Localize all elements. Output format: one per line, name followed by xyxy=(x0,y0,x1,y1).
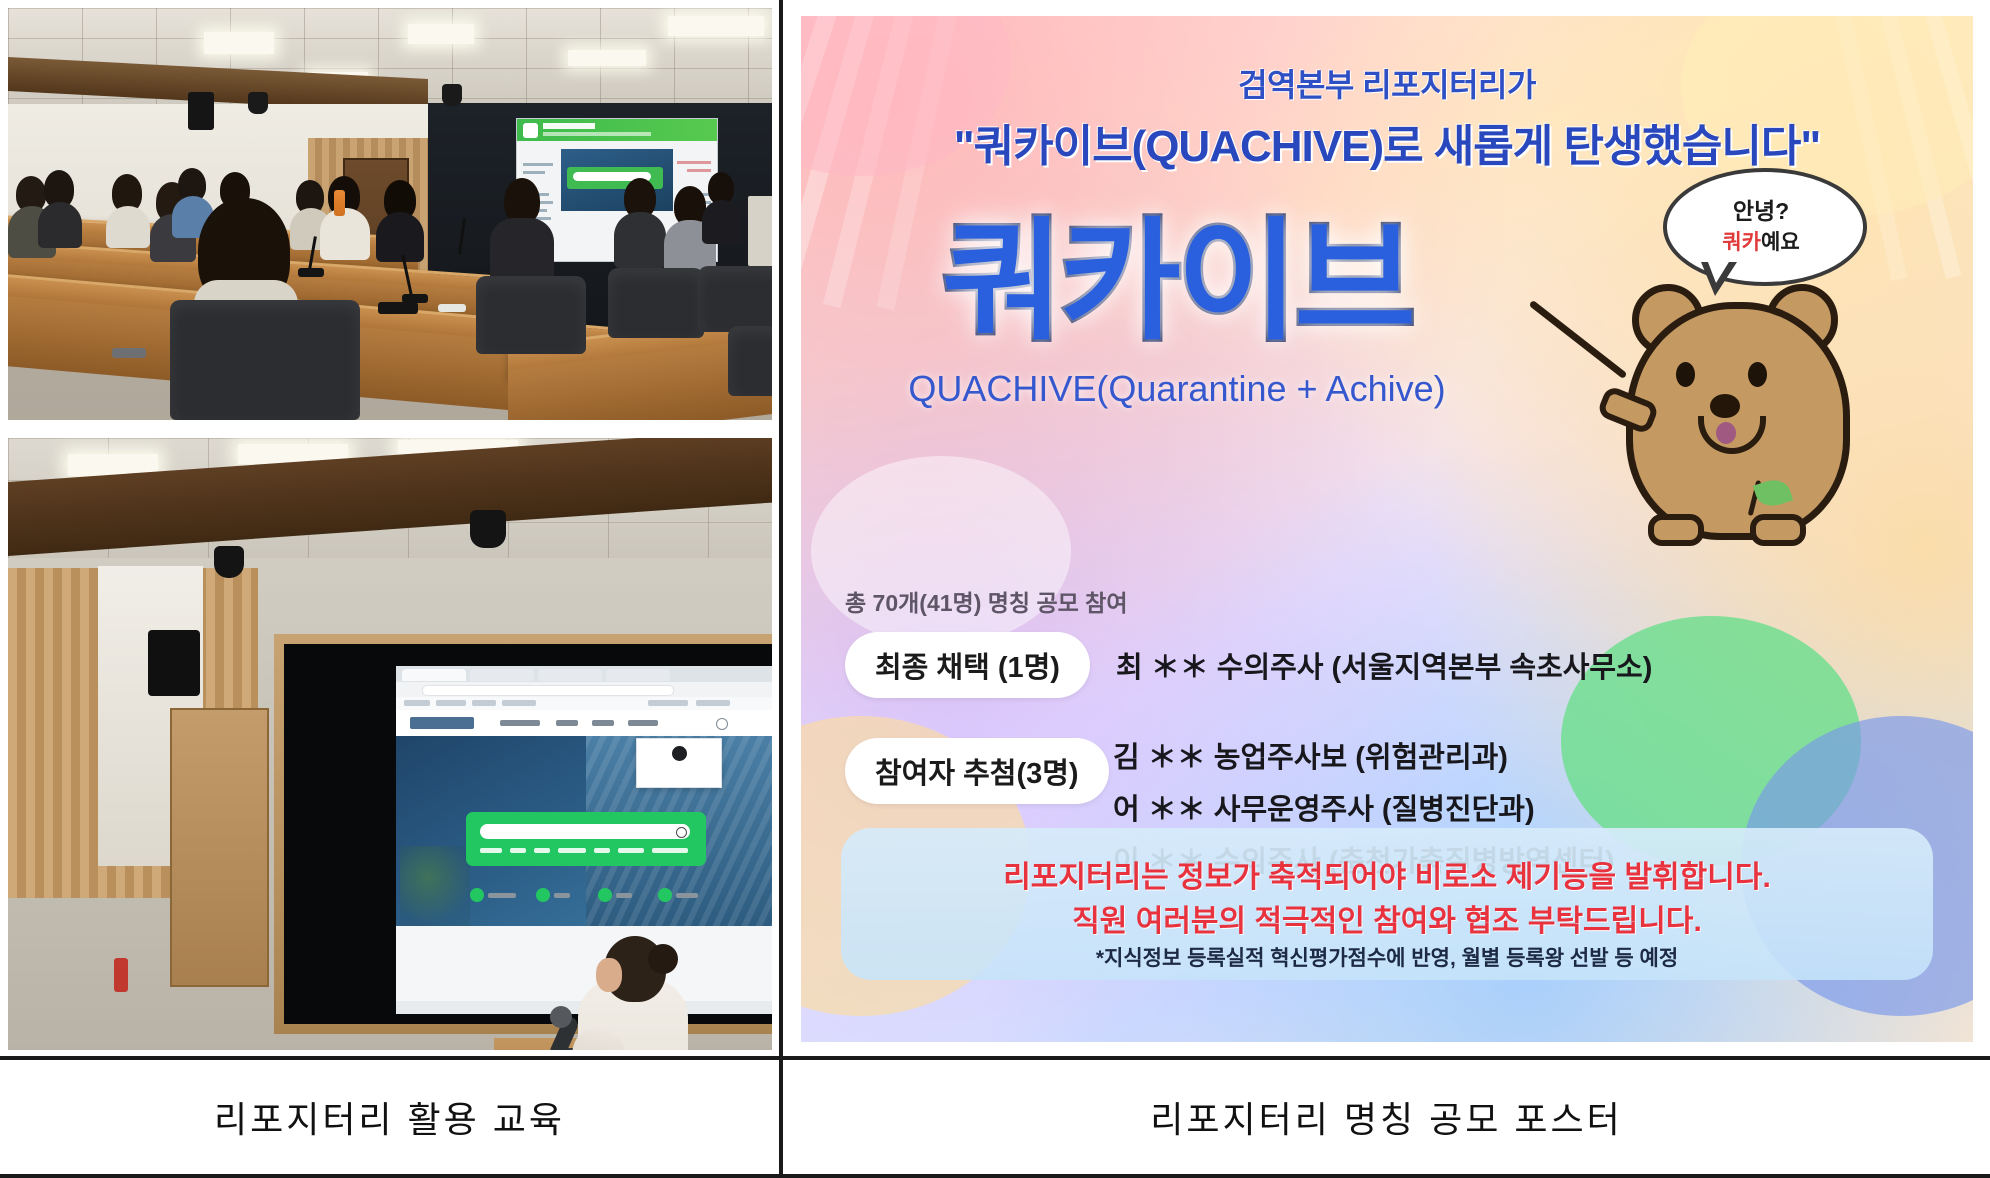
repository-training-lecture-hall-photo xyxy=(8,8,772,420)
draw-label: 참여자 추첨(3명) xyxy=(845,738,1109,804)
final-pick-label: 최종 채택 (1명) xyxy=(845,632,1090,698)
site-nav-item[interactable] xyxy=(556,720,578,726)
repository-demo-presenter-photo: APQA Repository 농림축산검역본부 리포지터리 xyxy=(8,438,772,1050)
poster-headline-line1: 검역본부 리포지터리가 xyxy=(801,60,1973,106)
quick-link-label xyxy=(488,893,516,898)
presenter-face xyxy=(596,958,622,992)
office-chair xyxy=(476,276,586,354)
desk-device xyxy=(378,302,418,314)
speech-bubble-line1: 안녕? xyxy=(1663,192,1859,226)
browser-tab[interactable] xyxy=(402,669,466,681)
poster-footnote: *지식정보 등록실적 혁신평가점수에 반영, 월별 등록왕 선발 등 예정 xyxy=(841,942,1933,972)
slide-left-note xyxy=(523,163,553,166)
bottom-border xyxy=(0,1174,1990,1178)
final-pick-row: 최종 채택 (1명) 최 ＊＊ 수의주사 (서울지역본부 속초사무소) xyxy=(845,632,1652,698)
desk-bottle xyxy=(334,190,345,216)
browser-tab[interactable] xyxy=(538,669,602,681)
microphone-base xyxy=(298,268,324,277)
ceiling-light xyxy=(204,32,274,54)
quokka-mascot xyxy=(1606,244,1876,544)
participation-tally: 총 70개(41명) 명칭 공모 참여 xyxy=(845,584,1128,618)
figure-sheet: APQA Repository 농림축산검역본부 리포지터리 xyxy=(0,0,1990,1178)
ceiling-light xyxy=(408,24,474,44)
search-icon[interactable] xyxy=(676,827,687,838)
bookmark-item[interactable] xyxy=(404,700,430,706)
address-bar[interactable] xyxy=(422,685,674,696)
browser-window: APQA Repository 농림축산검역본부 리포지터리 xyxy=(396,666,772,1014)
ceiling-light xyxy=(668,16,764,36)
bookmark-item[interactable] xyxy=(502,700,536,706)
poster-acronym: QUACHIVE(Quarantine + Achive) xyxy=(857,368,1497,410)
desk-paper xyxy=(438,304,466,312)
attendee-body xyxy=(614,212,666,268)
quick-link-label xyxy=(616,893,632,898)
search-tag[interactable] xyxy=(558,848,586,853)
quick-link-label xyxy=(554,893,570,898)
attendee-body xyxy=(38,202,82,248)
attendee-body xyxy=(320,208,370,260)
search-tag[interactable] xyxy=(510,848,526,853)
pointer-stick xyxy=(1529,300,1628,379)
quokka-foot-right xyxy=(1750,514,1806,546)
organization-logo-icon xyxy=(410,717,474,729)
caption-right: 리포지터리 명칭 공모 포스터 xyxy=(783,1060,1990,1174)
office-chair xyxy=(608,268,704,338)
site-nav-item[interactable] xyxy=(500,720,540,726)
poster-headline-line2: "쿼카이브(QUACHIVE)로 새롭게 탄생했습니다" xyxy=(801,110,1973,174)
cta-line2: 직원 여러분의 적극적인 참여와 협조 부탁드립니다. xyxy=(841,896,1933,940)
quokka-tongue xyxy=(1716,422,1736,444)
quick-link-label xyxy=(676,893,698,898)
quick-link-icon[interactable] xyxy=(598,888,612,902)
attendee-body xyxy=(106,206,150,248)
bookmark-item[interactable] xyxy=(696,700,730,706)
video-wall-display: APQA Repository 농림축산검역본부 리포지터리 xyxy=(284,644,772,1024)
vertical-divider xyxy=(779,0,783,1058)
avatar xyxy=(672,746,687,761)
lecture-hall-scene xyxy=(8,8,772,420)
ceiling-camera-icon xyxy=(214,546,244,578)
caption-left: 리포지터리 활용 교육 xyxy=(0,1060,779,1174)
quokka-nose xyxy=(1710,394,1740,418)
room-door xyxy=(170,708,269,987)
presenter-hair-bun xyxy=(648,944,678,974)
quick-link-icon[interactable] xyxy=(658,888,672,902)
site-search-input[interactable] xyxy=(480,824,690,839)
quokka-eye-left xyxy=(1676,362,1695,387)
draw-winner-item: 김 ＊＊ 농업주사보 (위험관리과) xyxy=(1113,734,1615,776)
desk-device xyxy=(112,348,146,358)
ceiling-camera-icon xyxy=(248,92,268,114)
search-tag[interactable] xyxy=(480,848,502,853)
slide-right-note xyxy=(687,169,711,172)
final-pick-winner: 최 ＊＊ 수의주사 (서울지역본부 속초사무소) xyxy=(1116,644,1652,686)
repository-naming-contest-poster: 검역본부 리포지터리가 "쿼카이브(QUACHIVE)로 새롭게 탄생했습니다"… xyxy=(801,16,1973,1042)
slide-right-note xyxy=(677,161,711,164)
ceiling-camera-icon xyxy=(470,510,506,548)
browser-tab[interactable] xyxy=(606,669,670,681)
bookmark-item[interactable] xyxy=(436,700,466,706)
presenter-body xyxy=(702,200,742,244)
fire-extinguisher xyxy=(114,958,128,992)
quokka-eye-right xyxy=(1748,362,1767,387)
wall-speaker xyxy=(148,630,200,696)
slide-left-note xyxy=(523,171,545,174)
poster-wordmark: 쿼카이브 xyxy=(857,216,1497,348)
draw-winner-item: 어 ＊＊ 사무운영주사 (질병진단과) xyxy=(1113,786,1615,828)
wall-speaker xyxy=(188,92,214,130)
organization-logo-icon xyxy=(523,123,538,138)
poster-cell: 검역본부 리포지터리가 "쿼카이브(QUACHIVE)로 새롭게 탄생했습니다"… xyxy=(783,0,1990,1056)
slide-title-text xyxy=(543,123,595,129)
office-chair xyxy=(698,266,772,332)
cta-line1: 리포지터리는 정보가 축적되어야 비로소 제기능을 발휘합니다. xyxy=(841,852,1933,896)
search-tag[interactable] xyxy=(652,848,688,853)
attendee-body xyxy=(376,212,424,262)
search-tag[interactable] xyxy=(534,848,550,853)
search-tag[interactable] xyxy=(618,848,644,853)
office-chair xyxy=(170,300,360,420)
quick-link-icon[interactable] xyxy=(470,888,484,902)
quick-link-icon[interactable] xyxy=(536,888,550,902)
office-chair xyxy=(728,326,772,396)
site-nav-item[interactable] xyxy=(592,720,614,726)
ceiling-camera-icon xyxy=(442,84,462,106)
demo-room-scene: APQA Repository 농림축산검역본부 리포지터리 xyxy=(8,438,772,1050)
slide-subtitle-text xyxy=(543,132,651,136)
site-search-icon[interactable] xyxy=(716,718,728,730)
quokka-foot-left xyxy=(1648,514,1704,546)
site-search-band xyxy=(466,812,706,866)
ceiling-light xyxy=(568,50,646,66)
search-tag[interactable] xyxy=(594,848,610,853)
bookmark-item[interactable] xyxy=(648,700,688,706)
browser-tab[interactable] xyxy=(470,669,534,681)
microphone-head xyxy=(550,1006,572,1028)
draw-label-row: 참여자 추첨(3명) xyxy=(845,738,1109,804)
site-nav-item[interactable] xyxy=(628,720,658,726)
podium xyxy=(748,196,772,266)
bookmark-item[interactable] xyxy=(472,700,496,706)
